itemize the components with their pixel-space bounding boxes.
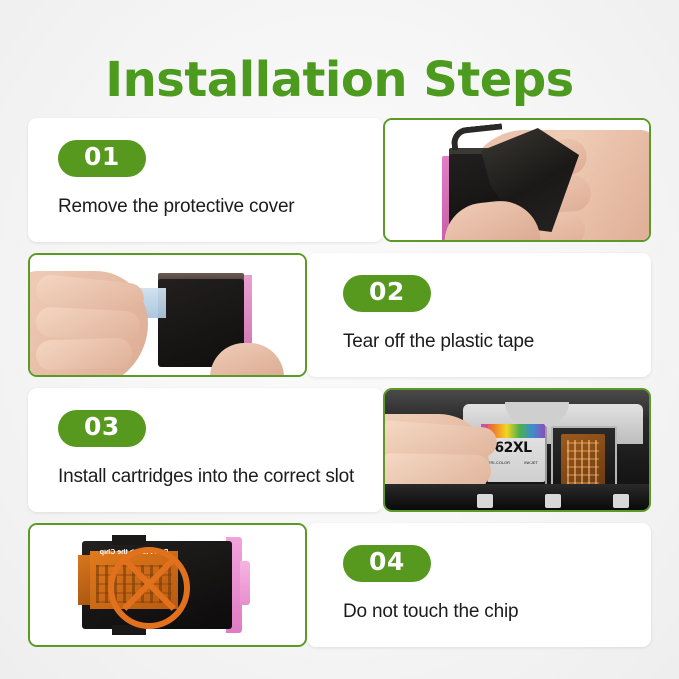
- page-title: Installation Steps: [0, 52, 679, 108]
- finger-shape: [36, 337, 133, 370]
- photo-scene-remove-cover: [385, 120, 649, 240]
- cartridge-copper-chip: [561, 434, 605, 490]
- printer-base: [385, 484, 649, 510]
- photo-scene-do-not-touch-chip: Don't touch the Chip: [30, 525, 305, 645]
- printer-base-tab: [477, 494, 493, 508]
- step-card-03: 03 Install cartridges into the correct s…: [28, 388, 383, 512]
- photo-scene-tear-tape: [30, 255, 305, 375]
- step-text-01: Remove the protective cover: [58, 194, 357, 219]
- step-text-03: Install cartridges into the correct slot: [58, 464, 357, 489]
- printer-base-tab: [545, 494, 561, 508]
- finger-shape: [383, 453, 491, 487]
- step-photo-04: Don't touch the Chip: [28, 523, 307, 647]
- step-card-02: 02 Tear off the plastic tape: [307, 253, 651, 377]
- no-touch-icon: [108, 547, 190, 629]
- cartridge-sub-right: INKJET: [524, 460, 538, 465]
- step-photo-03: 62XL TRI-COLOR INKJET: [383, 388, 651, 512]
- steps-list: 01 Remove the protective cover: [28, 118, 651, 658]
- finger-shape: [35, 306, 140, 341]
- cartridge-sublabels: TRI-COLOR INKJET: [481, 460, 545, 465]
- step-row-01: 01 Remove the protective cover: [28, 118, 651, 242]
- step-photo-02: [28, 253, 307, 377]
- printer-base-tab: [613, 494, 629, 508]
- step-number-badge-03: 03: [58, 410, 146, 447]
- step-row-02: 02 Tear off the plastic tape: [28, 253, 651, 377]
- cartridge-pink-tab: [240, 561, 250, 605]
- cartridge-notch: [112, 535, 146, 545]
- step-text-02: Tear off the plastic tape: [343, 329, 625, 354]
- cartridge-sub-left: TRI-COLOR: [488, 460, 510, 465]
- step-row-03: 03 Install cartridges into the correct s…: [28, 388, 651, 512]
- step-card-01: 01 Remove the protective cover: [28, 118, 383, 242]
- step-number-badge-01: 01: [58, 140, 146, 177]
- step-photo-01: [383, 118, 651, 242]
- installation-steps-page: Installation Steps 01 Remove the protect…: [0, 0, 679, 679]
- step-card-04: 04 Do not touch the chip: [307, 523, 651, 647]
- step-number-badge-02: 02: [343, 275, 431, 312]
- step-text-04: Do not touch the chip: [343, 599, 625, 624]
- step-number-badge-04: 04: [343, 545, 431, 582]
- photo-scene-install-cartridge: 62XL TRI-COLOR INKJET: [385, 390, 649, 510]
- step-row-04: Don't touch the Chip 04 Do not touch the…: [28, 523, 651, 647]
